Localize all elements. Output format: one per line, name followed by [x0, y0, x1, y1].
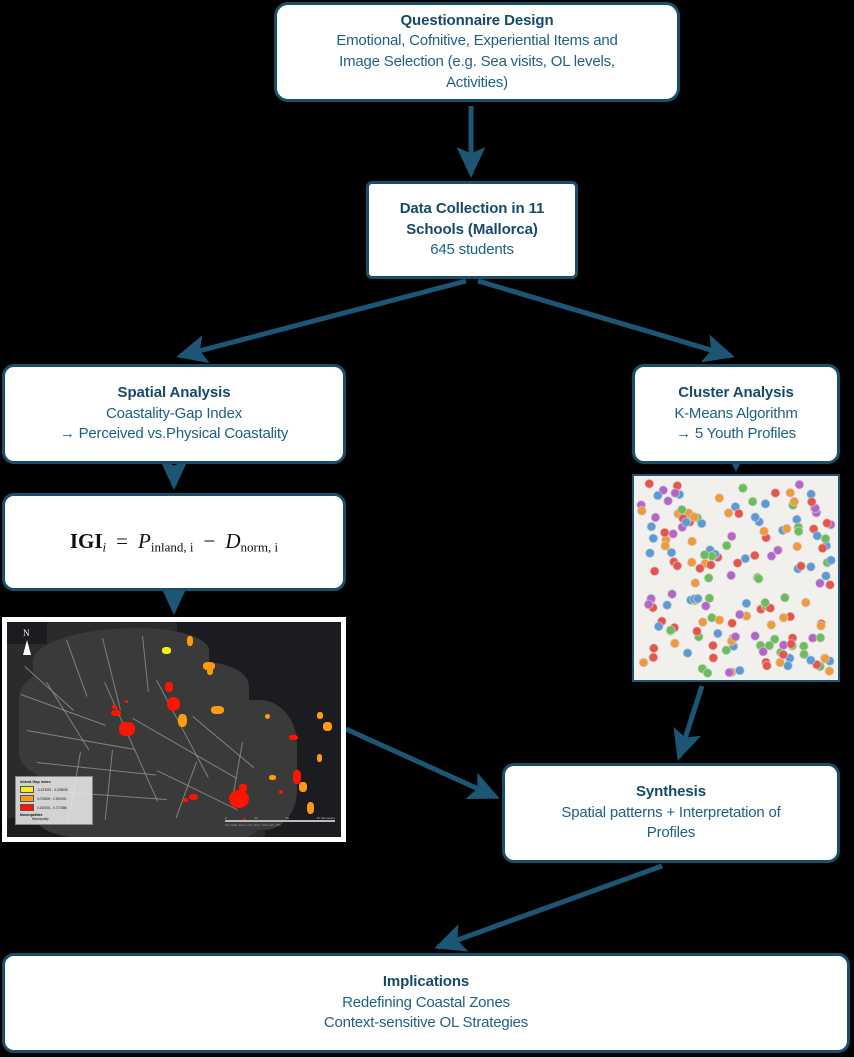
datacollection-line1: 645 students	[430, 240, 514, 261]
node-data-collection[interactable]: Data Collection in 11 Schools (Mallorca)…	[366, 181, 578, 279]
implications-line1: Redefining Coastal Zones	[342, 993, 510, 1014]
legend-swatch-red	[20, 804, 34, 811]
legend-municipality-label: Municipality	[32, 817, 88, 821]
formula-term1-sub: inland, i	[151, 539, 194, 554]
questionnaire-line2: Image Selection (e.g. Sea visits, OL lev…	[339, 52, 615, 73]
map-igi-blob	[111, 710, 121, 716]
map-credit: Esri, HERE, Garmin, FAO, NOAA, USGS, EPA…	[225, 824, 335, 827]
map-igi-blob	[299, 782, 307, 792]
datacollection-title-line1: Data Collection in 11	[400, 199, 545, 220]
map-igi-blob	[317, 754, 322, 762]
questionnaire-line3: Activities)	[446, 73, 508, 94]
questionnaire-title: Questionnaire Design	[400, 11, 553, 32]
map-legend-row: -0.673091 - 0.078608	[20, 786, 88, 793]
map-igi-blob	[162, 647, 171, 654]
node-cluster-analysis[interactable]: Cluster Analysis K-Means Algorithm → 5 Y…	[632, 364, 840, 464]
edge-scatter-to-synthesis	[679, 686, 702, 757]
implications-line2: Context-sensitive OL Strategies	[324, 1013, 528, 1034]
legend-label-1: -0.673091 - 0.078608	[37, 788, 67, 792]
datacollection-title-line2: Schools (Mallorca)	[406, 220, 538, 241]
scatter-canvas	[634, 476, 838, 680]
edge-synthesis-to-implications	[438, 866, 662, 947]
node-spatial-analysis[interactable]: Spatial Analysis Coastality-Gap Index → …	[2, 364, 346, 464]
map-north-label: N	[23, 628, 30, 638]
formula-operator: −	[194, 529, 226, 553]
cluster-line1: K-Means Algorithm	[674, 404, 797, 425]
north-arrow-icon	[23, 640, 31, 655]
legend-label-3: 0.200001 - 0.717588	[37, 806, 66, 810]
synthesis-line2: Profiles	[647, 823, 695, 844]
scatter-plot-clusters[interactable]	[632, 474, 840, 682]
map-igi-blob	[307, 802, 314, 814]
map-igi-blob	[317, 712, 323, 719]
map-igi-blob	[269, 775, 276, 780]
map-legend-row: 0.200001 - 0.717588	[20, 804, 88, 811]
formula-lhs: IGI	[70, 529, 103, 553]
map-igi-blob	[187, 636, 193, 646]
node-igi-formula[interactable]: IGIi=Pinland, i−Dnorm, i	[2, 493, 346, 591]
implications-title: Implications	[383, 972, 469, 993]
map-igi-blob	[265, 714, 270, 719]
legend-label-2: 0.078609 - 0.200000	[37, 797, 66, 801]
map-legend: Inland-Gap Index -0.673091 - 0.078608 0.…	[15, 776, 93, 825]
map-igi-blob	[323, 722, 332, 731]
cluster-line2: → 5 Youth Profiles	[676, 424, 796, 445]
map-panel-inland-gap-index[interactable]: N Inland-Gap Index -0.673091 - 0.078608 …	[2, 617, 346, 842]
scalebar-left: 0	[225, 816, 227, 820]
cluster-title: Cluster Analysis	[678, 383, 793, 404]
questionnaire-line1: Emotional, Cofnitive, Experiential Items…	[336, 31, 617, 52]
map-scalebar-bar	[225, 820, 335, 822]
formula-term2: D	[225, 529, 240, 553]
spatial-line2: → Perceived vs.Physical Coastality	[60, 424, 288, 445]
map-igi-blob	[125, 700, 128, 703]
map-igi-blob	[119, 722, 135, 736]
formula-term1: P	[138, 529, 151, 553]
scalebar-mid2: 20	[286, 816, 289, 820]
map-igi-blob	[167, 697, 180, 711]
map-igi-blob	[229, 790, 249, 808]
map-legend-title: Inland-Gap Index	[20, 780, 88, 784]
map-igi-blob	[211, 706, 224, 714]
node-implications[interactable]: Implications Redefining Coastal Zones Co…	[2, 953, 850, 1053]
map-igi-blob	[207, 666, 213, 675]
edge-map-to-synthesis	[346, 729, 496, 797]
scalebar-mid1: 10	[254, 816, 257, 820]
spatial-title: Spatial Analysis	[118, 383, 231, 404]
scalebar-right: 40 Kilometers	[317, 816, 335, 820]
map-igi-blob	[189, 794, 198, 800]
map-igi-blob	[239, 784, 247, 792]
formula-equals: =	[106, 529, 138, 553]
map-igi-blob	[165, 682, 173, 692]
map-igi-blob	[178, 714, 187, 727]
legend-swatch-orange	[20, 795, 34, 802]
map-igi-blob	[289, 735, 298, 740]
map-scalebar: 0 10 20 40 Kilometers Esri, HERE, Garmin…	[225, 816, 335, 827]
flowchart-canvas: Questionnaire Design Emotional, Cofnitiv…	[0, 0, 854, 1057]
map-igi-blob	[279, 790, 283, 794]
legend-swatch-yellow	[20, 786, 34, 793]
node-questionnaire-design[interactable]: Questionnaire Design Emotional, Cofnitiv…	[274, 2, 680, 102]
edge-datacollection-to-spatial	[180, 281, 466, 356]
formula-term2-sub: norm, i	[241, 539, 279, 554]
synthesis-title: Synthesis	[636, 782, 706, 803]
map-igi-blob	[112, 705, 117, 709]
map-north-arrow: N	[23, 628, 31, 655]
synthesis-line1: Spatial patterns + Interpretation of	[561, 803, 780, 824]
edge-datacollection-to-cluster	[478, 281, 731, 356]
igi-formula-expression: IGIi=Pinland, i−Dnorm, i	[70, 529, 278, 556]
node-synthesis[interactable]: Synthesis Spatial patterns + Interpretat…	[502, 763, 840, 863]
spatial-line1: Coastality-Gap Index	[106, 404, 242, 425]
map-igi-blob	[183, 798, 188, 802]
map-legend-row: 0.078609 - 0.200000	[20, 795, 88, 802]
map-inner: N Inland-Gap Index -0.673091 - 0.078608 …	[7, 622, 341, 837]
